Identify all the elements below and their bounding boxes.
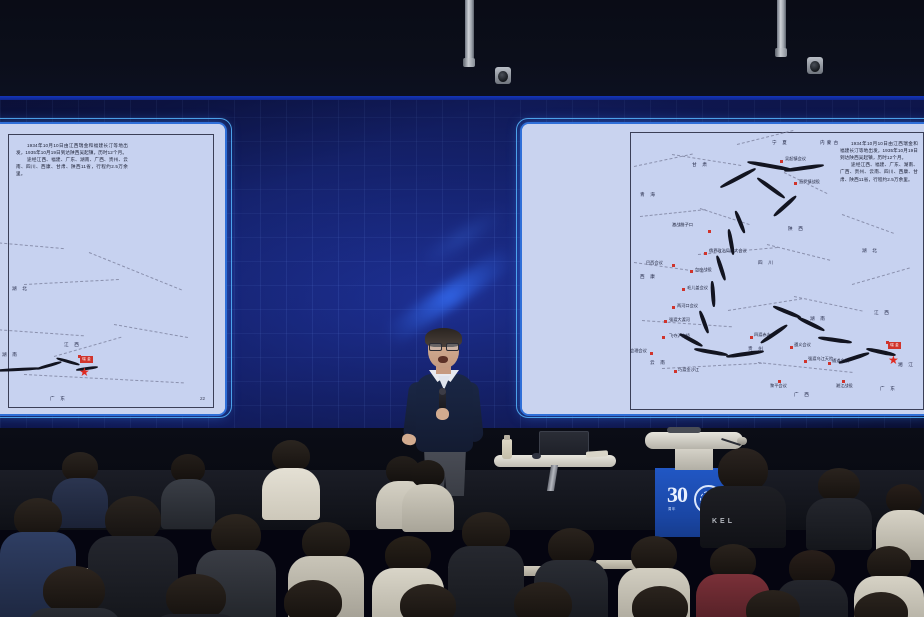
event-label-huili: 会理会议 (630, 348, 647, 354)
audience-member (150, 574, 242, 617)
event-label-chishui: 四渡赤水 (754, 332, 771, 338)
right-slide-note: 1934年10月10日由江西瑞金和福建长汀等地出发，1935年10月19日到达陕… (840, 140, 918, 183)
slide-panel-right[interactable]: 长征路 路线示意图 LONG MARCH ROUTE MAP 1934年10月1… (520, 122, 924, 416)
event-label-baozuo: 包座战役 (695, 267, 712, 273)
audience-member (384, 584, 472, 617)
event-label-xiangjiang-battle: 湘江战役 (836, 383, 853, 389)
map-dot (708, 230, 711, 233)
event-label-maoergai: 毛儿盖会议 (687, 285, 708, 291)
audience-member (26, 566, 122, 617)
event-label-tongdao: 通道会议 (832, 358, 849, 364)
map-dot (780, 160, 783, 163)
map-dot (828, 362, 831, 365)
province-label-hunan: 湖 南 (810, 316, 827, 322)
map-dot (886, 341, 889, 344)
province-label-jiangxi: 江 西 (874, 310, 891, 316)
province-label-shaanxi: 陕 西 (788, 226, 805, 232)
audience-member (838, 592, 924, 617)
province-label-gansu: 甘 肃 (692, 162, 709, 168)
audience-member (730, 590, 816, 617)
event-label-wuqizhen: 吴起镇会议 (785, 156, 806, 162)
city-flag-ruijin: 瑞 金 (888, 342, 901, 349)
audience-member (402, 460, 454, 526)
map-dot (672, 264, 675, 267)
left-slide-note: 1934年10月10日由江西瑞金和福建长汀等地出发，1935年10月19日到达陕… (16, 142, 128, 178)
map-dot (804, 360, 807, 363)
province-label-sichuan: 四 川 (758, 260, 775, 266)
ceiling-projector-right (775, 0, 787, 74)
province-label-guangdong: 广 东 (880, 386, 897, 392)
event-label-lazikou: 激战腊子口 (672, 222, 693, 228)
province-label-xikang: 西 康 (640, 274, 657, 280)
map-dot (664, 320, 667, 323)
audience-member (268, 580, 358, 617)
province-label-hunan: 湖 南 (2, 352, 19, 358)
province-label-guangxi: 广 西 (794, 392, 811, 398)
slide-panel-left[interactable]: 1934年10月10日由江西瑞金和福建长汀等地出发，1935年10月19日到达陕… (0, 122, 227, 416)
map-dot (662, 336, 665, 339)
audience-member (806, 468, 872, 544)
right-slide-surface: 长征路 路线示意图 LONG MARCH ROUTE MAP 1934年10月1… (522, 124, 924, 414)
province-label-neimenggu: 内蒙古 (820, 140, 840, 146)
map-dot (690, 270, 693, 273)
event-label-jinshajiang: 巧渡金沙江 (678, 367, 699, 373)
event-label-dadu-river: 强渡大渡河 (669, 317, 690, 323)
map-dot (704, 252, 707, 255)
event-label-liping: 黎平会议 (770, 383, 787, 389)
audience-member (616, 586, 704, 617)
province-label-ningxia: 宁 夏 (772, 140, 789, 146)
left-note-line-2: 途经江西、福建、广东、湖南、广西、贵州、云南、四川、西康、甘肃、陕西11省，行程… (16, 156, 128, 177)
map-dot (650, 352, 653, 355)
province-label-hubei: 湖 北 (12, 286, 29, 292)
audience-member (262, 440, 320, 514)
province-label-yunnan: 云 南 (650, 360, 667, 366)
map-dot (794, 182, 797, 185)
province-label-guangdong: 广 东 (50, 396, 67, 402)
lecture-hall-scene: 1934年10月10日由江西瑞金和福建长汀等地出发，1935年10月19日到达陕… (0, 0, 924, 617)
city-flag-ruijin: 瑞 金 (80, 356, 93, 363)
left-note-line-1: 1934年10月10日由江西瑞金和福建长汀等地出发，1935年10月19日到达陕… (16, 142, 128, 156)
right-note-line-2: 途经江西、福建、广东、湖南、广西、贵州、云南、四川、西康、甘肃、陕西11省，行程… (840, 161, 918, 182)
right-note-line-1: 1934年10月10日由江西瑞金和福建长汀等地出发，1935年10月19日到达陕… (840, 140, 918, 161)
event-label-zunyi-conference: 遵义会议 (794, 342, 811, 348)
audience-member (498, 582, 588, 617)
province-label-jiangxi: 江 西 (64, 342, 81, 348)
map-dot (672, 306, 675, 309)
presenter-hand-right (436, 408, 449, 420)
event-label-lianghekou: 两河口会议 (677, 303, 698, 309)
event-label-baxi: 巴西会议 (646, 260, 663, 266)
map-dot (790, 346, 793, 349)
event-label-luding-bridge: 飞夺泸定桥 (669, 333, 690, 339)
map-dot (750, 336, 753, 339)
event-label-zhiluozhen: 直罗镇战役 (799, 179, 820, 185)
left-slide-surface: 1934年10月10日由江西瑞金和福建长汀等地出发，1935年10月19日到达陕… (0, 124, 225, 414)
jacket-text-kel: KEL (712, 518, 735, 525)
presenter-mouth (438, 356, 448, 363)
audience-member (876, 484, 924, 554)
audience: KEL (0, 440, 924, 617)
province-label-xiangjiang: 湘 江 (898, 362, 915, 368)
left-slide-page-number: 22 (200, 396, 205, 401)
province-label-qinghai: 青 海 (640, 192, 657, 198)
map-dot (674, 370, 677, 373)
map-dot (78, 355, 81, 358)
province-label-hubei: 湖 北 (862, 248, 879, 254)
glasses-icon (428, 343, 459, 349)
ceiling-projector-left (463, 0, 475, 84)
map-dot (682, 288, 685, 291)
event-label-ejie: 俄界政治局扩大会议 (709, 248, 747, 254)
